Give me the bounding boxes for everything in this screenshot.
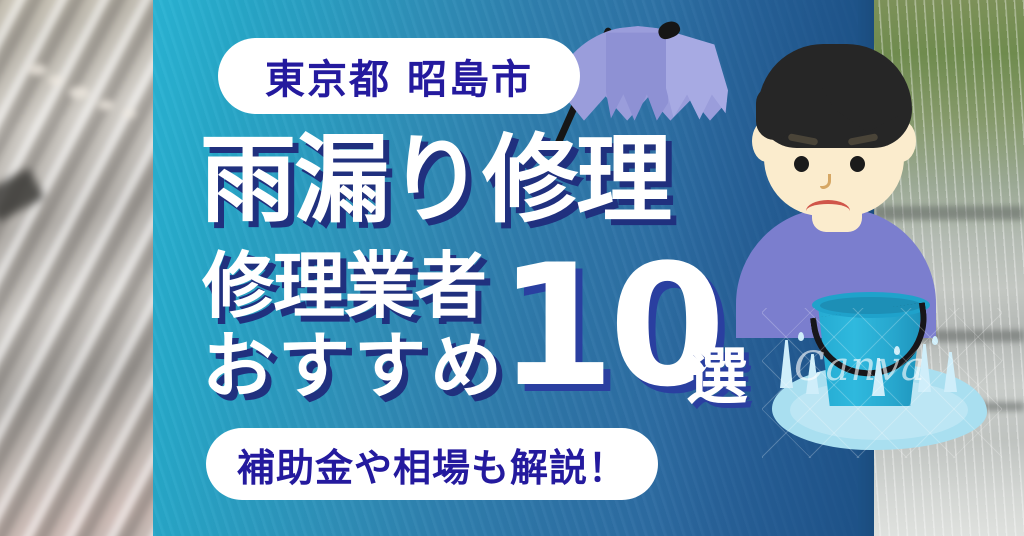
umbrella-panel — [666, 30, 728, 134]
umbrella-panel — [606, 26, 668, 136]
water-drop — [932, 336, 938, 345]
headline-subline-1: 修理業者 — [202, 250, 486, 322]
roof-shingles-photo — [0, 0, 167, 536]
banner-canvas: Canva 東京都 昭島市 雨漏り修理 修理業者 おすすめ 10 選 補助金や相… — [0, 0, 1024, 536]
roof-speck — [29, 64, 47, 75]
roof-speck — [98, 100, 114, 110]
bucket-and-puddle: Canva — [772, 288, 1002, 468]
roof-dark-tile — [0, 168, 45, 223]
worried-man-illustration — [744, 28, 934, 328]
roof-speck — [123, 109, 136, 118]
man-frown-mouth — [806, 200, 850, 222]
water-drop — [894, 346, 900, 355]
man-eye-right — [850, 156, 865, 172]
headline-main: 雨漏り修理 — [200, 132, 670, 228]
man-eye-left — [794, 156, 809, 172]
water-drop — [798, 332, 804, 341]
water-splash — [944, 352, 957, 392]
headline-number-unit: 選 — [686, 346, 748, 408]
roof-speck — [49, 75, 64, 85]
roof-speck — [69, 87, 89, 99]
location-pill: 東京都 昭島市 — [218, 38, 580, 114]
headline-subline-2: おすすめ — [202, 330, 506, 402]
man-hair-side — [756, 86, 790, 140]
water-splash — [780, 340, 793, 388]
subtitle-pill: 補助金や相場も解説！ — [206, 428, 658, 500]
